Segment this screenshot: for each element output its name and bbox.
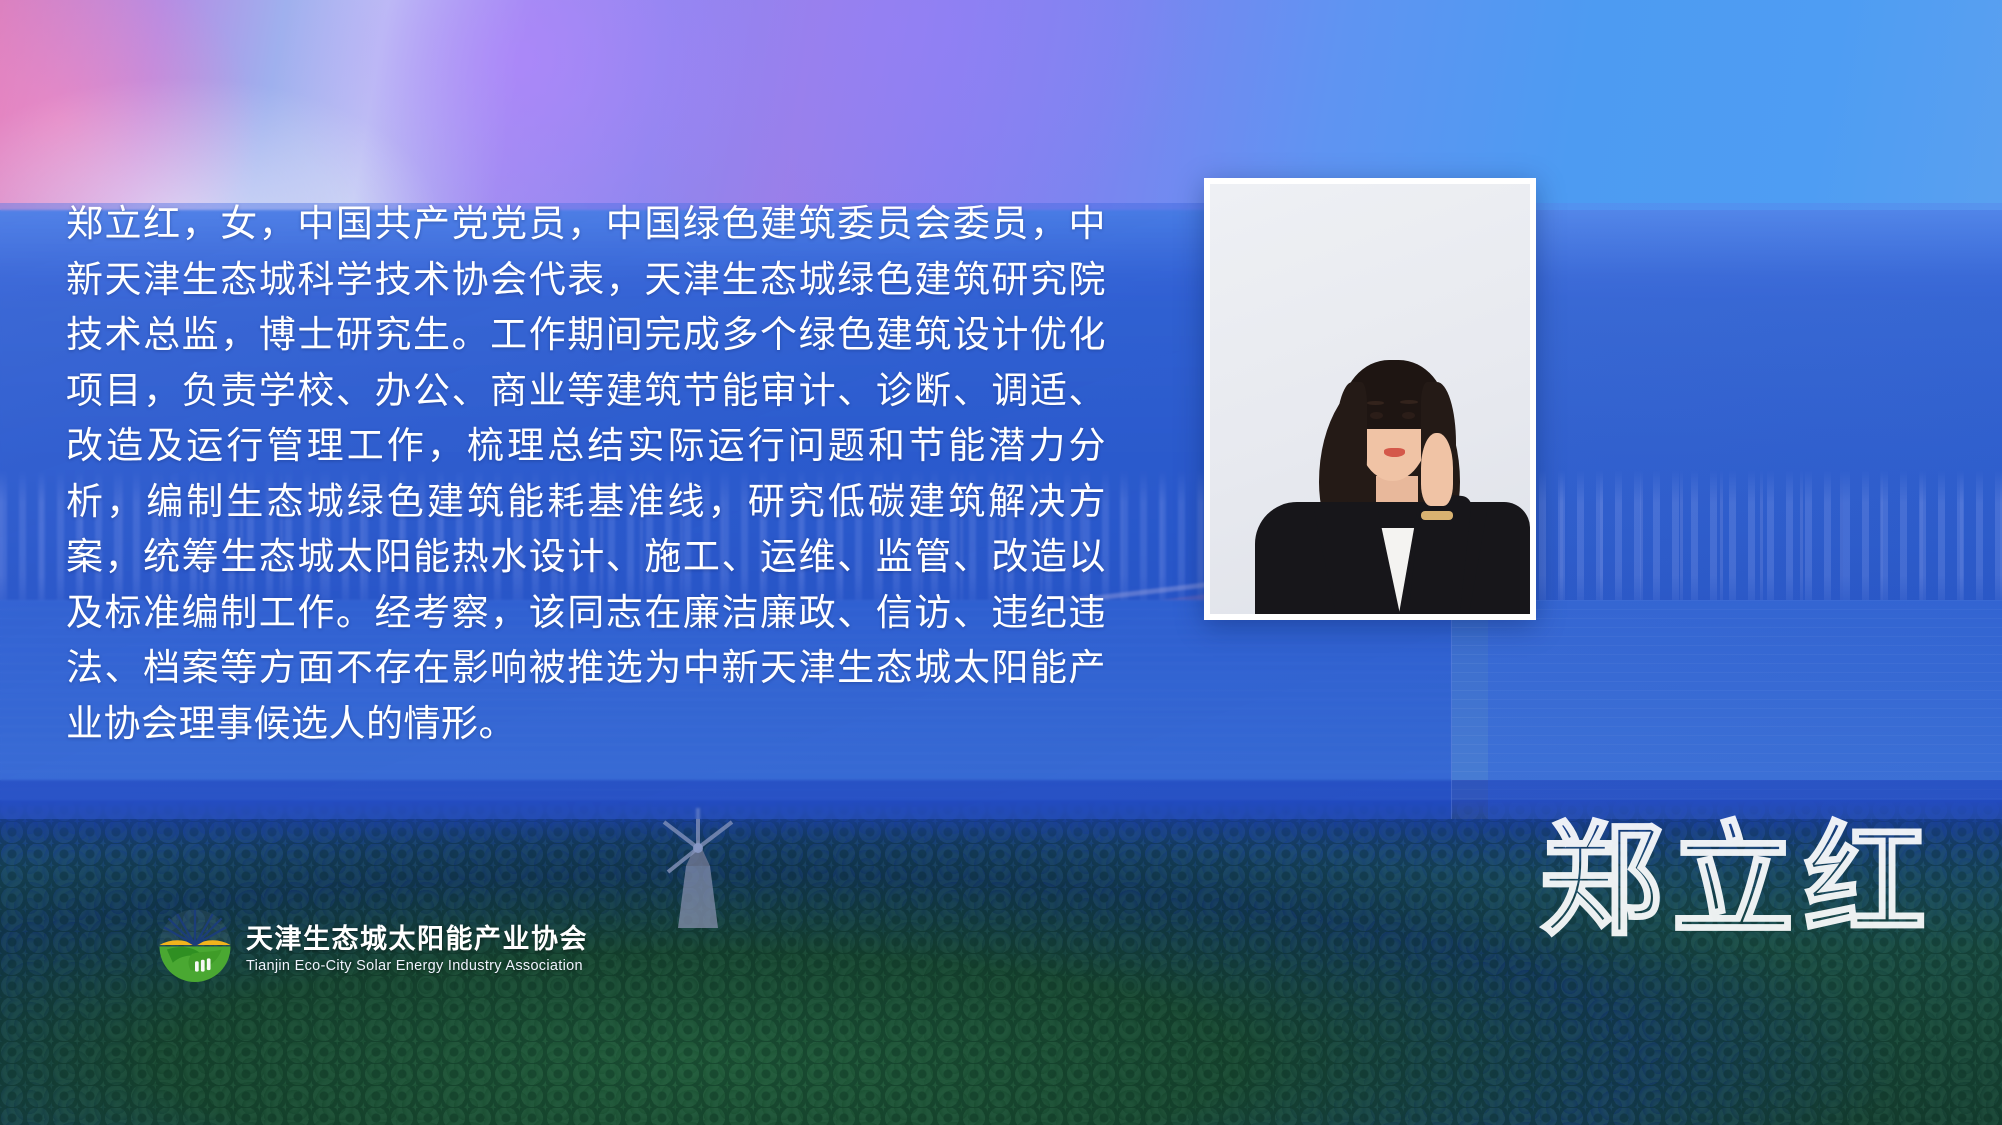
portrait-frame	[1204, 178, 1536, 620]
portrait-eye-right	[1402, 412, 1415, 419]
logo-chinese-name: 天津生态城太阳能产业协会	[246, 917, 588, 956]
person-name-outline: 郑立红	[1540, 820, 1936, 942]
slide-canvas: 郑立红，女，中国共产党党员，中国绿色建筑委员会委员，中新天津生态城科学技术协会代…	[0, 0, 2002, 1125]
portrait-brow-left	[1367, 401, 1385, 405]
biography-text: 郑立红，女，中国共产党党员，中国绿色建筑委员会委员，中新天津生态城科学技术协会代…	[66, 196, 1106, 751]
portrait-panel	[1488, 203, 2002, 819]
portrait-hair-left	[1335, 382, 1367, 502]
logo-english-name: Tianjin Eco-City Solar Energy Industry A…	[246, 958, 588, 974]
portrait-photo	[1210, 184, 1530, 614]
association-logo: 天津生态城太阳能产业协会 Tianjin Eco-City Solar Ener…	[158, 908, 588, 982]
portrait-bracelet	[1421, 511, 1453, 520]
portrait-brow-right	[1400, 400, 1418, 404]
portrait-eye-left	[1370, 412, 1383, 419]
portrait-hand	[1421, 433, 1453, 506]
logo-text-block: 天津生态城太阳能产业协会 Tianjin Eco-City Solar Ener…	[246, 917, 588, 974]
solar-leaf-logo-icon	[158, 908, 232, 982]
